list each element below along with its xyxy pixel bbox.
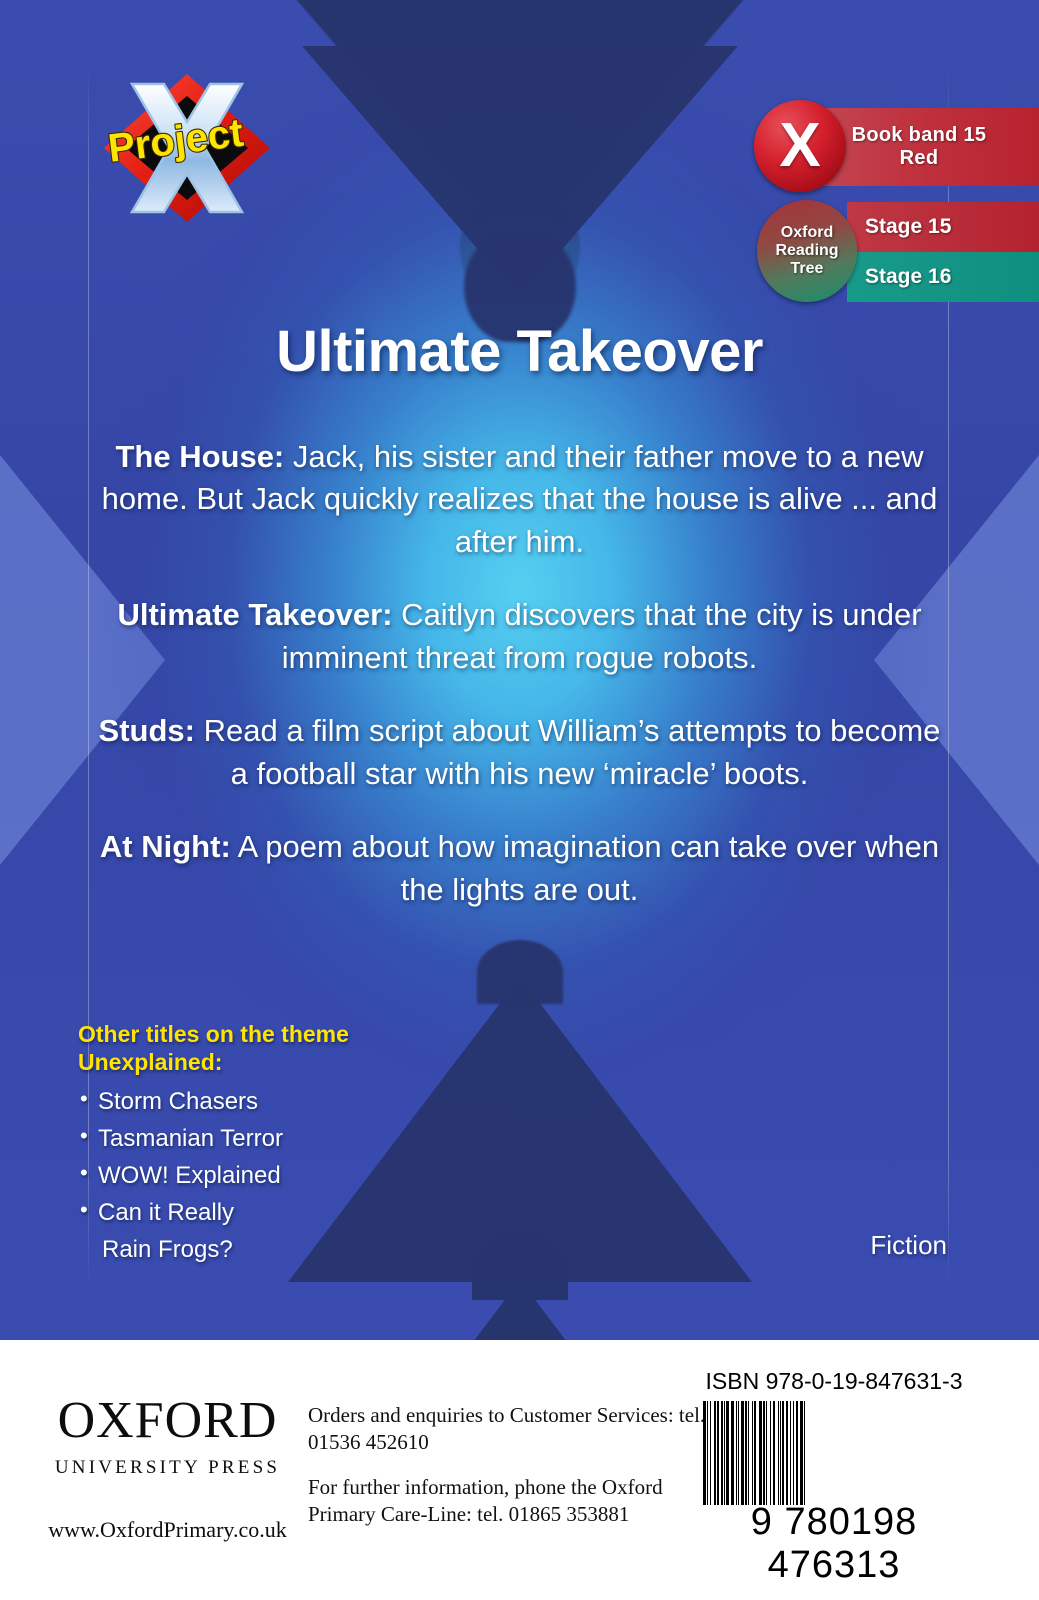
- blurb-text: A poem about how imagination can take ov…: [231, 829, 939, 906]
- blurb-text: Read a film script about William’s attem…: [195, 713, 940, 790]
- blurb-list: The House: Jack, his sister and their fa…: [88, 405, 951, 933]
- list-item: WOW! Explained: [78, 1157, 458, 1194]
- publisher-subtitle: UNIVERSITY PRESS: [40, 1457, 295, 1479]
- blurb-item: At Night: A poem about how imagination c…: [88, 826, 951, 911]
- blurb-lead: Ultimate Takeover:: [117, 597, 392, 632]
- list-item: Tasmanian Terror: [78, 1120, 458, 1157]
- other-titles-heading-line2: Unexplained:: [78, 1048, 458, 1076]
- blurb-item: Ultimate Takeover: Caitlyn discovers tha…: [88, 594, 951, 679]
- list-item-continuation: Rain Frogs?: [78, 1231, 458, 1268]
- other-titles-heading-line1: Other titles on the theme: [78, 1020, 458, 1048]
- ort-stage-bars: Stage 15 Stage 16: [847, 202, 1039, 302]
- publisher-footer: OXFORD UNIVERSITY PRESS www.OxfordPrimar…: [0, 1340, 1039, 1600]
- book-band-badge: Book band 15 Red X: [739, 100, 1039, 194]
- blurb-lead: Studs:: [99, 713, 195, 748]
- badge-group: Book band 15 Red X Stage 15 Stage 16 Oxf…: [739, 100, 1039, 302]
- blurb-lead: At Night:: [100, 829, 231, 864]
- publisher-website[interactable]: www.OxfordPrimary.co.uk: [40, 1517, 295, 1543]
- publisher-name: OXFORD: [40, 1395, 295, 1447]
- genre-label: Fiction: [870, 1230, 947, 1261]
- isbn-barcode-digits: 9 780198 476313: [689, 1501, 979, 1587]
- other-titles-block: Other titles on the theme Unexplained: S…: [78, 1020, 458, 1269]
- ort-circle-line3: Tree: [791, 260, 824, 278]
- contact-orders: Orders and enquiries to Customer Service…: [308, 1402, 708, 1456]
- list-item: Can it Really: [78, 1194, 458, 1231]
- book-band-line2: Red: [900, 147, 939, 170]
- book-band-x-icon: X: [754, 100, 846, 192]
- contact-info: Orders and enquiries to Customer Service…: [308, 1402, 708, 1546]
- panel-bottom-peak-cap: [477, 940, 563, 1004]
- ort-stage-lower: Stage 16: [847, 252, 1039, 302]
- blurb-item: Studs: Read a film script about William’…: [88, 710, 951, 795]
- project-x-logo: Project Project: [92, 62, 282, 234]
- ort-circle-line2: Reading: [775, 242, 838, 260]
- barcode-bar: [805, 1401, 807, 1505]
- list-item: Storm Chasers: [78, 1083, 458, 1120]
- book-back-cover: Project Project Book band 15 Red X Stage…: [0, 0, 1039, 1600]
- isbn-barcode: [703, 1401, 965, 1505]
- isbn-block: ISBN 978-0-19-847631-3 9 780198 476313: [689, 1368, 979, 1587]
- book-band-line1: Book band 15: [852, 124, 987, 147]
- blurb-item: The House: Jack, his sister and their fa…: [88, 436, 951, 563]
- ort-circle-icon: Oxford Reading Tree: [757, 200, 857, 302]
- project-x-logo-icon: Project: [92, 62, 282, 234]
- contact-careline: For further information, phone the Oxfor…: [308, 1474, 708, 1528]
- other-titles-list: Storm Chasers Tasmanian Terror WOW! Expl…: [78, 1083, 458, 1269]
- book-title: Ultimate Takeover: [0, 318, 1039, 385]
- oxford-university-press-logo: OXFORD UNIVERSITY PRESS www.OxfordPrimar…: [40, 1395, 295, 1543]
- ort-circle-line1: Oxford: [781, 224, 833, 242]
- other-titles-heading: Other titles on the theme Unexplained:: [78, 1020, 458, 1077]
- isbn-label: ISBN 978-0-19-847631-3: [689, 1368, 979, 1395]
- blurb-lead: The House:: [115, 439, 284, 474]
- oxford-reading-tree-badge: Stage 15 Stage 16 Oxford Reading Tree: [739, 202, 1039, 302]
- ort-stage-upper: Stage 15: [847, 202, 1039, 252]
